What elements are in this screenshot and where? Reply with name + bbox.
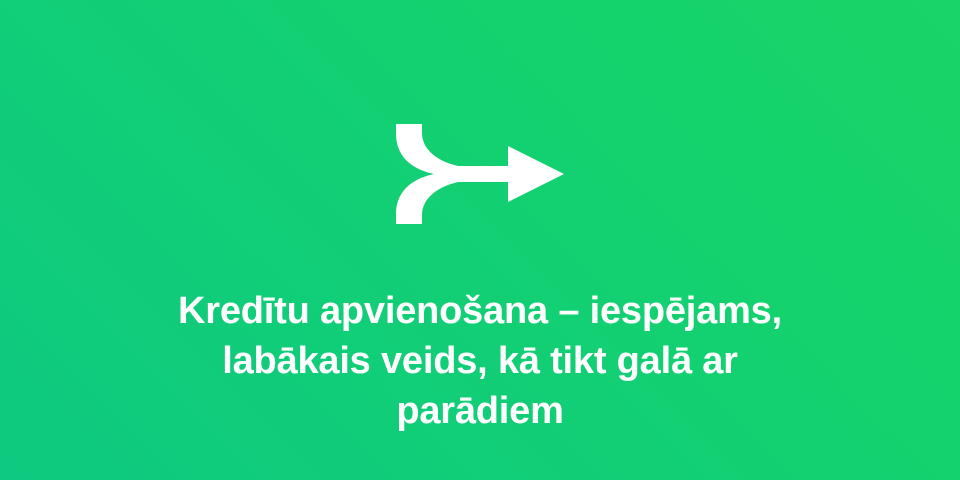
headline-line-3: parādiem: [170, 386, 790, 436]
headline-line-1: Kredītu apvienošana – iespējams,: [170, 286, 790, 336]
merge-arrow-icon: [396, 124, 564, 224]
page-title: Kredītu apvienošana – iespējams, labākai…: [170, 286, 790, 436]
banner-icon-container: [0, 124, 960, 224]
promo-banner: Kredītu apvienošana – iespējams, labākai…: [0, 0, 960, 480]
headline-line-2: labākais veids, kā tikt galā ar: [170, 336, 790, 386]
